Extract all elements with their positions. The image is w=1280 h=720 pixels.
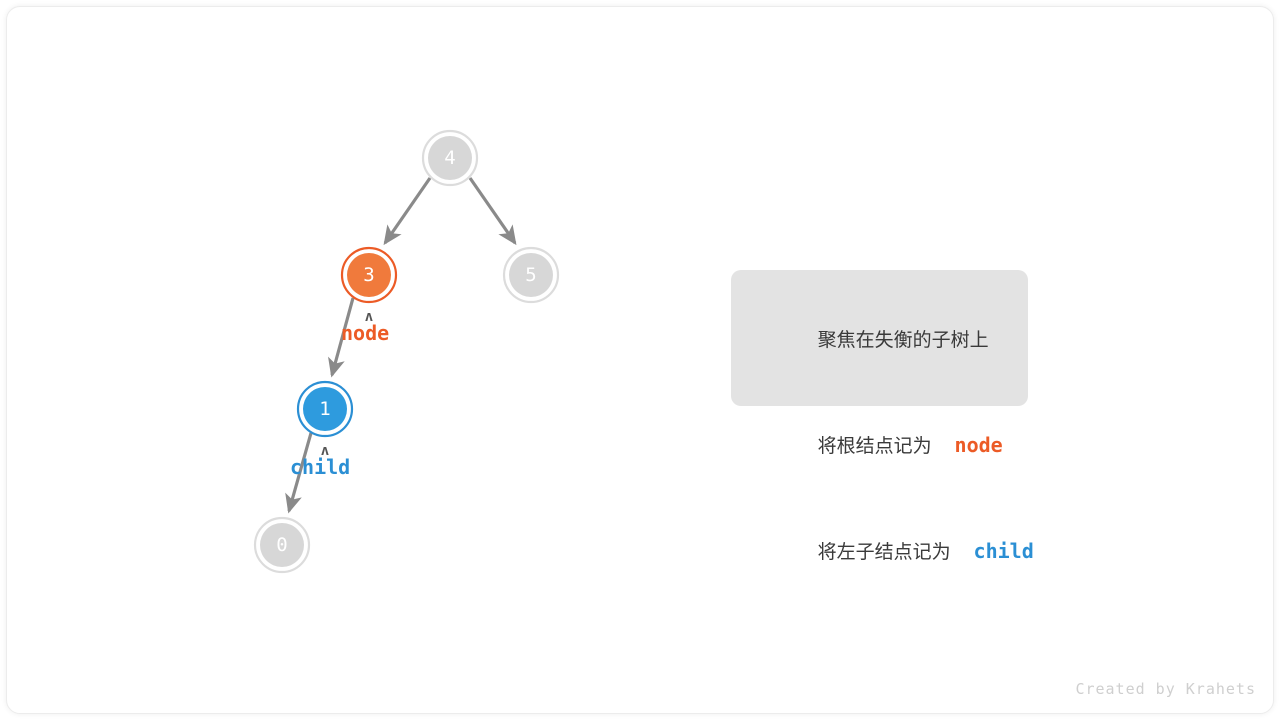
pointer-label-child: ʌ child	[290, 446, 360, 478]
tree-node-1[interactable]: 1	[298, 382, 352, 436]
node-label-5: 5	[525, 264, 536, 286]
screenshot-root: 4 3 5 1 0	[0, 0, 1280, 720]
explanation-line-3-code: child	[974, 539, 1034, 563]
explanation-line-2-prefix: 将根结点记为	[818, 435, 955, 457]
explanation-line-2: 将根结点记为 node	[749, 393, 1028, 499]
tree-node-3[interactable]: 3	[342, 248, 396, 302]
explanation-line-3: 将左子结点记为 child	[749, 499, 1028, 605]
edge-4-5	[470, 178, 515, 243]
tree-nodes: 4 3 5 1 0	[255, 131, 558, 572]
tree-node-4[interactable]: 4	[423, 131, 477, 185]
explanation-panel: 聚焦在失衡的子树上 将根结点记为 node 将左子结点记为 child	[731, 270, 1028, 406]
explanation-line-3-prefix: 将左子结点记为	[818, 541, 974, 563]
explanation-line-2-code: node	[955, 433, 1003, 457]
explanation-line-1: 聚焦在失衡的子树上	[749, 288, 1028, 393]
tree-node-5[interactable]: 5	[504, 248, 558, 302]
node-label-1: 1	[319, 398, 330, 420]
pointer-label-child-text: child	[290, 456, 360, 478]
node-label-3: 3	[363, 264, 374, 286]
pointer-label-node: ʌ node	[341, 312, 397, 344]
credit-text: Created by Krahets	[1075, 680, 1256, 698]
node-label-4: 4	[444, 147, 455, 169]
node-label-0: 0	[276, 534, 287, 556]
edge-4-3	[385, 178, 430, 243]
explanation-line-1-text: 聚焦在失衡的子树上	[818, 329, 989, 351]
pointer-label-node-text: node	[341, 322, 397, 344]
binary-tree-diagram: 4 3 5 1 0	[0, 0, 1280, 720]
tree-node-0[interactable]: 0	[255, 518, 309, 572]
